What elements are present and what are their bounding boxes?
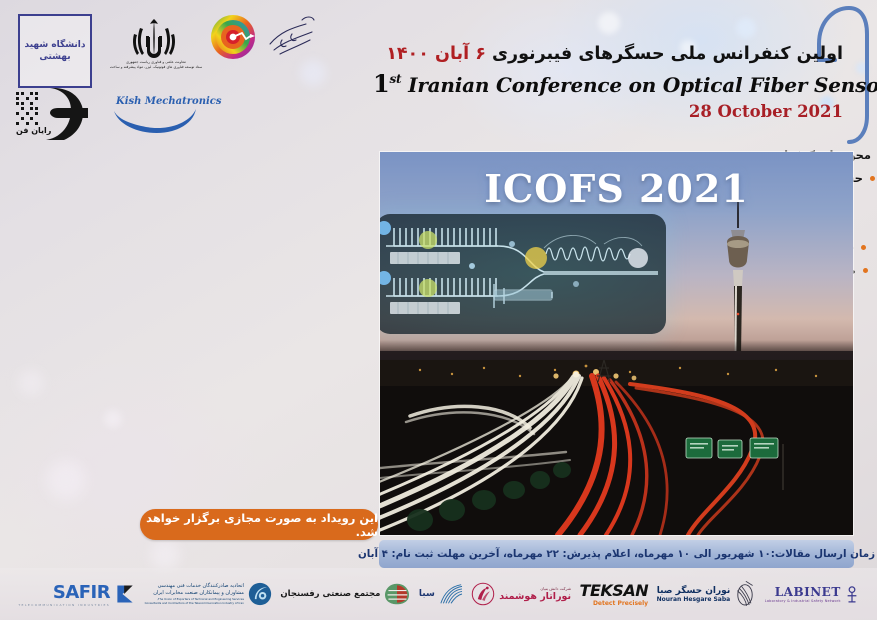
bokeh-accent — [46, 460, 86, 500]
sponsor-safir: SAFIR TELECOMMUNICATION INDUSTRIES — [18, 582, 136, 607]
title-english: 1st Iranian Conference on Optical Fiber … — [373, 69, 843, 98]
sponsor-labinet: LABINET Laboratory & Industrial Safety N… — [765, 584, 859, 604]
top-logo-strip: دانشگاه شهید بهشتی معاونت علمی و فناو — [0, 0, 380, 146]
sponsor-teksan-label: TEKSAN — [580, 581, 649, 600]
important-dates-banner: زمان ارسال مقالات:۱۰ شهریور الی ۱۰ مهرما… — [379, 540, 854, 568]
sponsor-safir-label: SAFIR — [18, 582, 110, 603]
iran-emblem-caption: معاونت علمی و فناوری ریاست جمهوری ستاد ت… — [104, 60, 208, 71]
sponsor-labinet-label: LABINET — [765, 585, 841, 599]
sbu-logo-label: دانشگاه شهید بهشتی — [20, 39, 90, 63]
virtual-event-banner-text: این رویداد به صورت مجازی برگزار خواهد شد… — [140, 511, 378, 539]
important-dates-text: زمان ارسال مقالات:۱۰ شهریور الی ۱۰ مهرما… — [358, 548, 875, 560]
title-ordinal: 1st — [373, 69, 401, 98]
sponsor-nouran-label-en: Nouran Hesgare Saba — [657, 596, 731, 603]
sponsor-nooratar-label: نوراتار هوشمند — [499, 591, 571, 602]
sponsor-nouran-hesgare-saba: نوران حسگر صبا Nouran Hesgare Saba — [657, 581, 757, 607]
sponsor-mojtame-sanati-rafsanjan: مجتمع صنعتی رفسنجان — [280, 582, 410, 606]
sponsor-union-telecom: اتحادیه صادرکنندگان خدمات فنی مهندسی مشا… — [145, 582, 272, 606]
poster-title-block: اولین کنفرانس ملی حسگرهای فیبرنوری ۶ آبا… — [373, 44, 843, 121]
sponsor-nouran-label-fa: نوران حسگر صبا — [657, 586, 731, 596]
sponsor-union-label-fa-1: اتحادیه صادرکنندگان خدمات فنی مهندسی — [145, 583, 244, 591]
bokeh-accent — [18, 370, 44, 396]
title-persian: اولین کنفرانس ملی حسگرهای فیبرنوری ۶ آبا… — [373, 44, 843, 66]
sponsor-labinet-sublabel: Laboratory & Industrial Safety Network — [765, 599, 841, 603]
logo-optics-photonics-society-iran — [206, 8, 260, 62]
title-ordinal-number: 1 — [373, 69, 390, 98]
bokeh-accent — [104, 410, 122, 428]
iran-emblem-caption-line2: ستاد توسعه فناوری های فوتونیک، لیزر، موا… — [104, 65, 208, 70]
bullet-icon — [863, 268, 868, 273]
title-persian-date: ۶ آبان ۱۴۰۰ — [386, 44, 486, 64]
highway-light-trails — [380, 360, 853, 535]
bokeh-accent — [150, 540, 180, 570]
bullet-icon — [870, 176, 875, 181]
sponsor-saba: سبا — [419, 583, 463, 605]
sponsor-teksan-sublabel: Detect Precisely — [580, 600, 649, 607]
kish-mechatronics-label: Kish Mechatronics — [116, 96, 222, 107]
hero-title: ICOFS 2021 — [380, 166, 853, 211]
sponsor-nooratar-hooshmand: شرکت دانش بنیان نوراتار هوشمند — [471, 582, 571, 606]
sponsor-union-label-en-2: Consultants and Contractors of the Telec… — [145, 602, 244, 606]
bokeh-accent — [736, 18, 756, 38]
bullet-icon — [861, 245, 866, 250]
sponsor-saba-label: سبا — [419, 589, 435, 599]
logo-shahid-beheshti-university: دانشگاه شهید بهشتی — [18, 14, 92, 88]
bokeh-accent — [598, 12, 620, 34]
title-ordinal-suffix: st — [390, 72, 402, 86]
sponsor-teksan: TEKSAN Detect Precisely — [580, 581, 649, 607]
title-date-english: 28 October 2021 — [373, 102, 843, 121]
virtual-event-banner: این رویداد به صورت مجازی برگزار خواهد شد… — [140, 509, 378, 540]
hero-image: ICOFS 2021 — [380, 152, 853, 535]
rayan-fan-caption: رایان فن — [16, 126, 51, 135]
sponsor-logo-strip: LABINET Laboratory & Industrial Safety N… — [0, 568, 877, 620]
sponsor-mojtame-label: مجتمع صنعتی رفسنجان — [280, 589, 380, 599]
conference-poster: دانشگاه شهید بهشتی معاونت علمی و فناو — [0, 0, 877, 620]
title-persian-main: اولین کنفرانس ملی حسگرهای فیبرنوری — [492, 44, 843, 64]
photonic-chip-illustration — [380, 214, 666, 334]
logo-opsi-persian-script — [262, 10, 322, 64]
sponsor-safir-sublabel: TELECOMMUNICATION INDUSTRIES — [18, 603, 110, 607]
title-english-text: Iranian Conference on Optical Fiber Sens… — [408, 73, 877, 97]
